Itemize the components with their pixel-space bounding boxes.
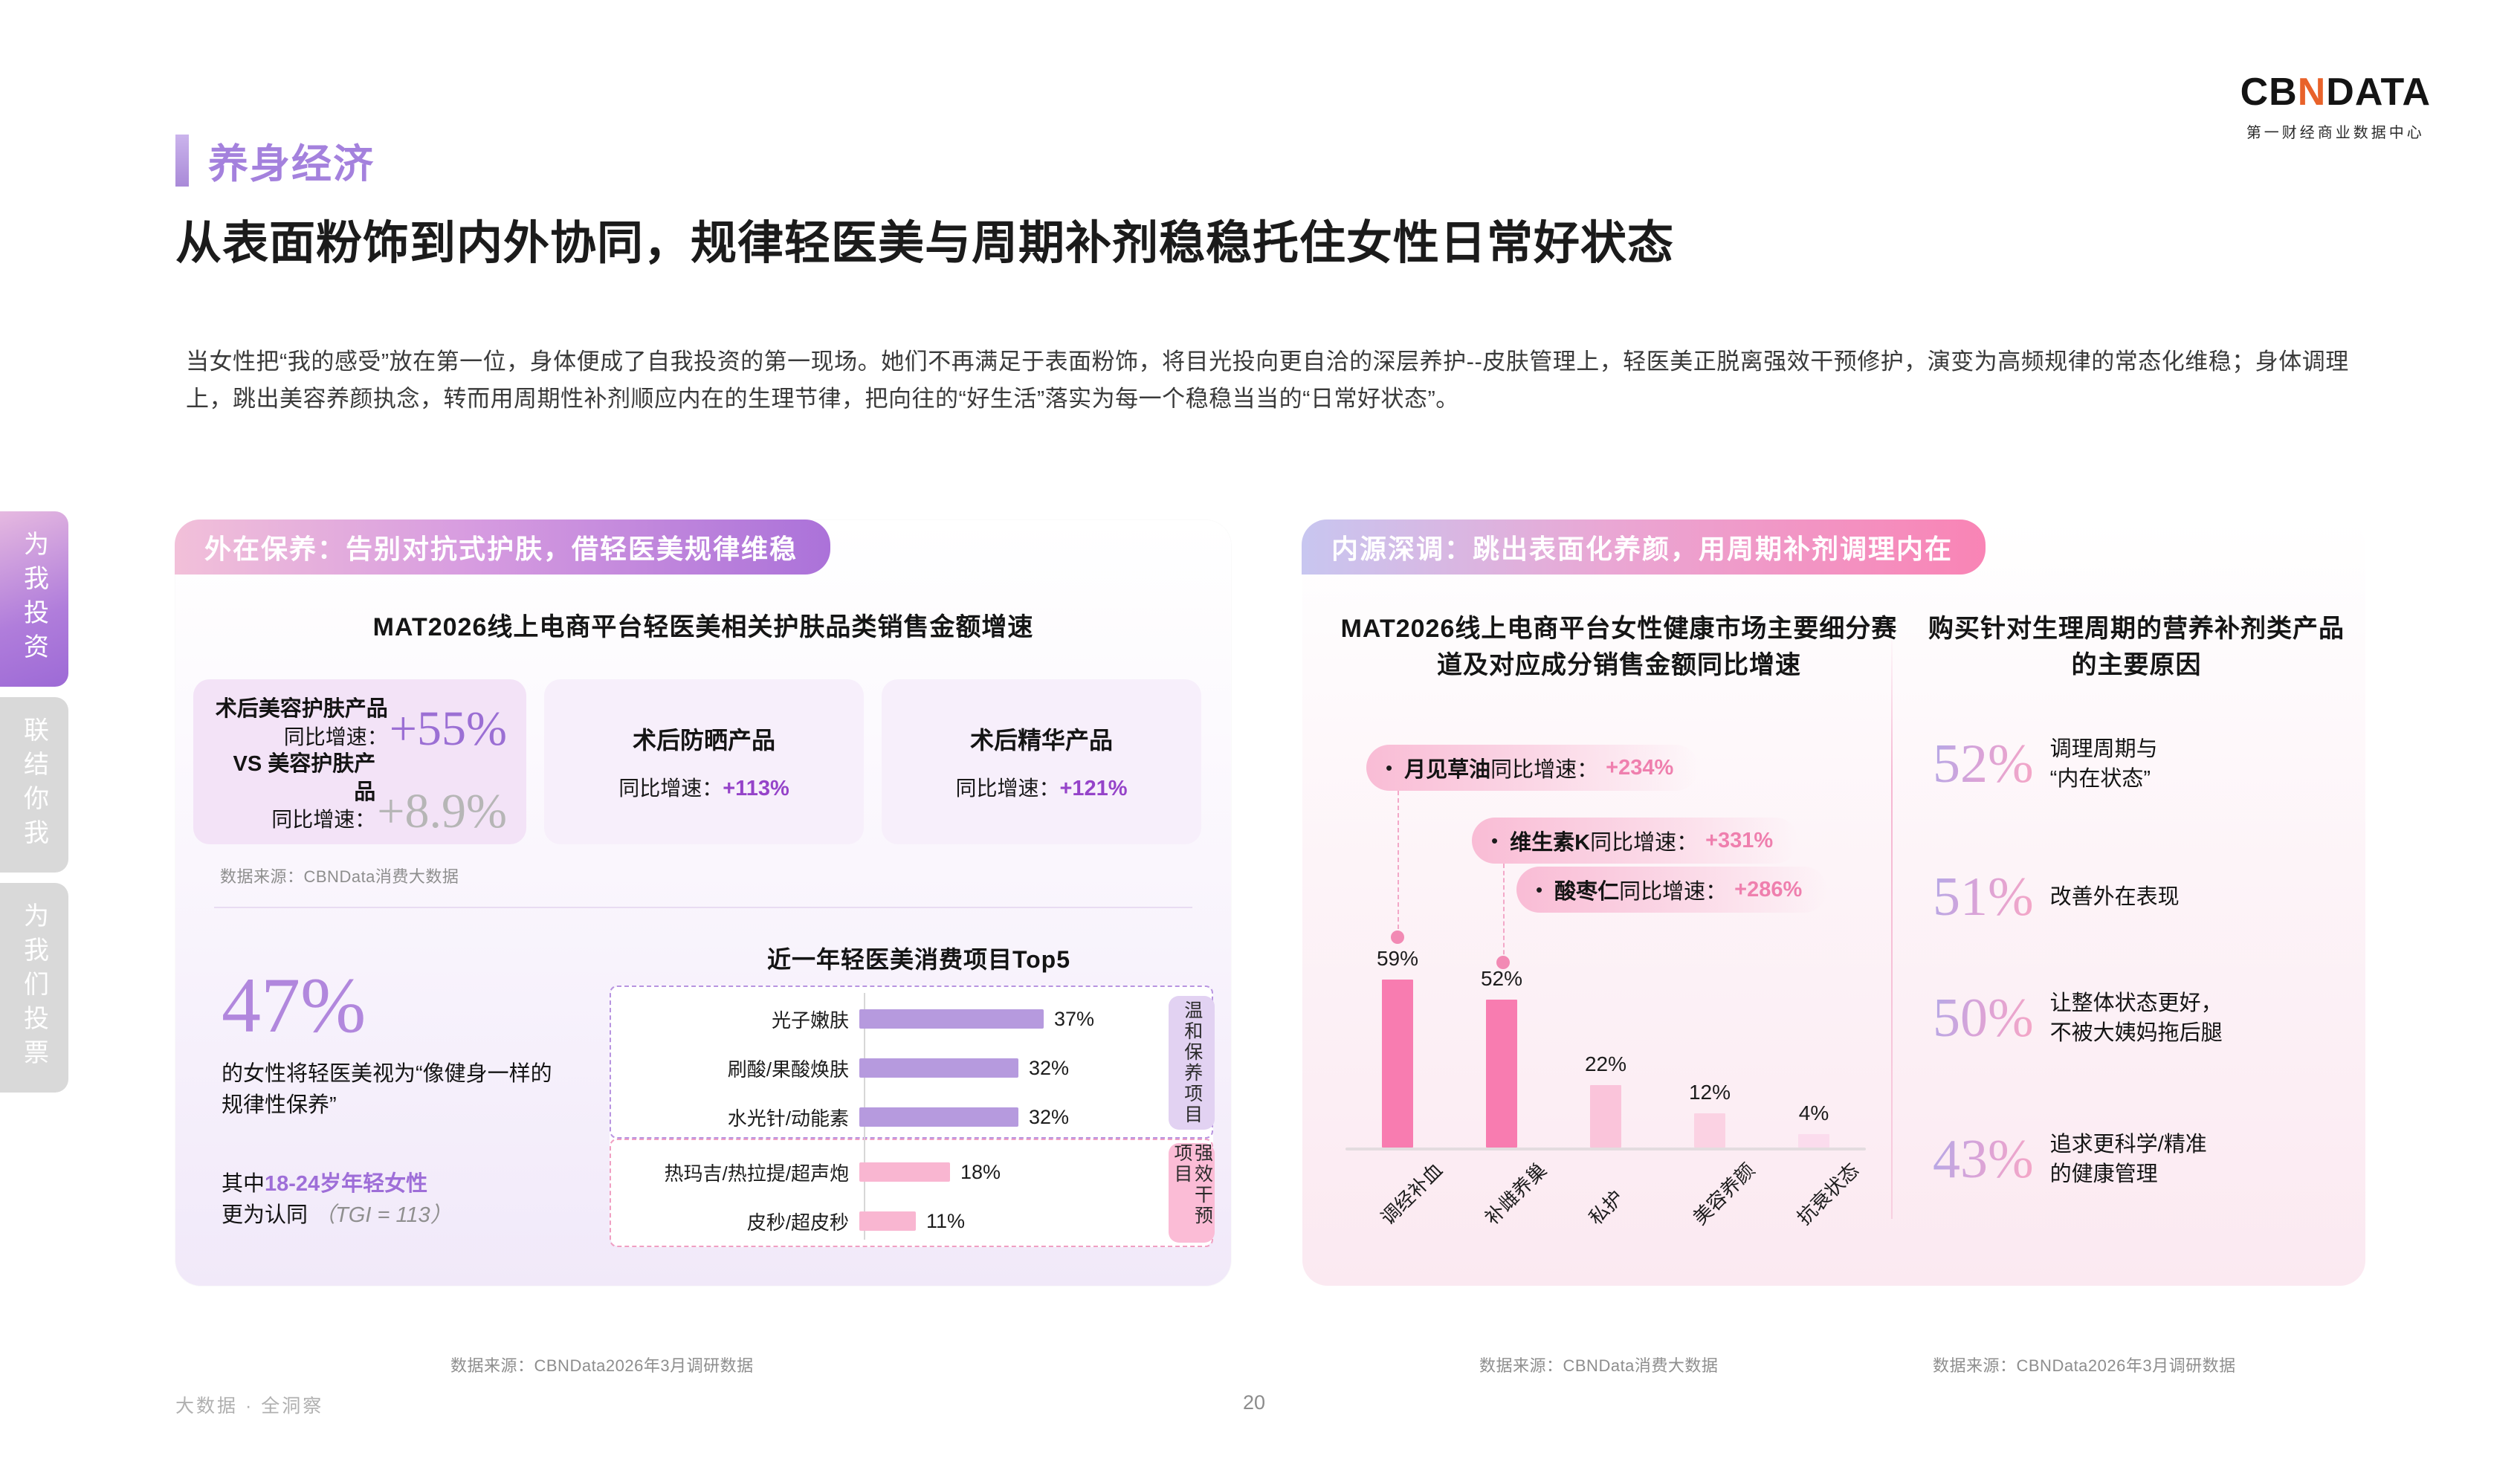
bar-value: 18% <box>960 1161 1001 1184</box>
reason-percent: 50% <box>1933 991 2034 1046</box>
right-panel-banner: 内源深调：跳出表面化养颜，用周期补剂调理内在 <box>1302 520 1986 575</box>
stat-value: +55% <box>390 707 507 751</box>
stat-card-value-line: 同比增速：+113% <box>618 772 789 802</box>
logo-part-b: DATA <box>2326 71 2431 114</box>
bar-category-2: 私护 <box>1582 1183 1629 1230</box>
bar-category-4: 抗衰状态 <box>1790 1156 1864 1230</box>
bar-value: 37% <box>1054 1008 1094 1031</box>
bar-column-3: 12% <box>1658 1081 1762 1148</box>
rail-gap <box>0 687 68 697</box>
kicker-bar <box>175 135 189 187</box>
stat-label-main: VS 美容护肤产品 <box>233 752 376 804</box>
reason-text: 让整体状态更好， 不被大姨妈拖后腿 <box>2050 988 2223 1048</box>
intro-paragraph: 当女性把“我的感受”放在第一位，身体便成了自我投资的第一现场。她们不再满足于表面… <box>186 343 2371 418</box>
logo-wordmark: CBNDATA <box>2240 73 2431 111</box>
reason-text: 调理周期与 “内在状态” <box>2050 734 2158 794</box>
rail-tab-2[interactable]: 为我们投票 <box>0 883 68 1093</box>
callout-mid: 同比增速： <box>1490 752 1598 783</box>
callout-3: • 酸枣仁 同比增速： +286% <box>1516 867 1827 913</box>
slide-page: 为我投资 联结你我 为我们投票 CBNDATA 第一财经商业数据中心 养身经济 … <box>0 0 2520 1479</box>
bar-value: 32% <box>1029 1106 1069 1129</box>
stat-value: +113% <box>723 777 789 800</box>
stat-card-value-line: 同比增速：+121% <box>955 772 1127 802</box>
bar-value: 11% <box>926 1210 965 1233</box>
callout-mid: 同比增速： <box>1590 825 1698 856</box>
rail-gap <box>0 873 68 883</box>
right-source-note-chart: 数据来源：CBNData消费大数据 <box>1479 1353 1718 1376</box>
callout-2: • 维生素K 同比增速： +331% <box>1472 818 1798 864</box>
reason-percent: 52% <box>1933 737 2034 792</box>
right-source-note-reasons: 数据来源：CBNData2026年3月调研数据 <box>1933 1353 2236 1376</box>
reason-item-3: 43% 追求更科学/精准 的健康管理 <box>1933 1130 2207 1189</box>
left-source-note-top: 数据来源：CBNData消费大数据 <box>220 864 459 887</box>
stat-label-sub: 同比增速： <box>216 724 388 751</box>
logo-part-x: N <box>2298 71 2327 114</box>
top5-bar-row-3: 热玛吉/热拉提/超声炮 18% <box>610 1155 1213 1189</box>
bar-label: 皮秒/超皮秒 <box>610 1208 859 1235</box>
callout-name: 月见草油 <box>1404 752 1490 783</box>
stat-line-compare: VS 美容护肤产品同比增速： +8.9% <box>213 751 507 834</box>
footer-tagline: 大数据 · 全洞察 <box>175 1391 323 1418</box>
bar-fill <box>1798 1134 1829 1148</box>
stat-label-sub: 同比增速： <box>213 806 375 833</box>
stat-card-postop-essence: 术后精华产品 同比增速：+121% <box>882 679 1201 844</box>
stat-value: +121% <box>1059 777 1127 800</box>
bar-category-3: 美容养颜 <box>1686 1156 1760 1230</box>
callout-pct: +286% <box>1734 878 1802 902</box>
bullet-icon: • <box>1491 829 1498 852</box>
bar-value: 12% <box>1689 1081 1731 1104</box>
top5-bar-row-2: 水光针/动能素 32% <box>610 1100 1213 1134</box>
reason-text: 改善外在表现 <box>2050 882 2180 912</box>
leader-line-1 <box>1398 791 1399 936</box>
callout-mid: 同比增速： <box>1619 874 1727 905</box>
stat-value: +8.9% <box>377 789 507 833</box>
reason-percent: 51% <box>1933 870 2034 925</box>
stat-label: VS 美容护肤产品同比增速： <box>213 751 375 834</box>
stat-prefix: 同比增速： <box>955 777 1059 800</box>
bar-column-2: 22% <box>1554 1052 1658 1148</box>
bar-fill <box>859 1211 916 1231</box>
left-source-note-bottom: 数据来源：CBNData2026年3月调研数据 <box>450 1353 754 1376</box>
rail-tab-0[interactable]: 为我投资 <box>0 511 68 687</box>
stat-card-title: 术后防晒产品 <box>633 722 775 756</box>
cbndata-logo: CBNDATA 第一财经商业数据中心 <box>2240 73 2431 142</box>
bar-fill <box>1382 980 1413 1148</box>
top5-bar-row-0: 光子嫩肤 37% <box>610 1002 1213 1036</box>
vertical-separator <box>1891 632 1893 1219</box>
top5-chart-title: 近一年轻医美消费项目Top5 <box>636 941 1201 975</box>
tgi-note: （TGI = 113） <box>314 1203 452 1227</box>
bar-column-1: 52% <box>1450 967 1554 1148</box>
highlight-big-number: 47% <box>222 966 571 1045</box>
stat-prefix: 同比增速： <box>618 777 723 800</box>
callout-pct: +234% <box>1606 756 1673 780</box>
bar-label: 水光针/动能素 <box>610 1104 859 1131</box>
bar-fill <box>1486 1000 1517 1148</box>
bar-fill <box>859 1058 1018 1078</box>
bar-value: 32% <box>1029 1057 1069 1080</box>
tgi-pre: 其中 <box>222 1172 265 1196</box>
reason-percent: 43% <box>1933 1132 2034 1187</box>
segment-bar-chart: 59% 52% 22% 12% 4% 调经补血 补雌养巢 私护 美容 <box>1345 919 1866 1238</box>
logo-part-a: CB <box>2240 71 2298 114</box>
bar-column-0: 59% <box>1345 947 1450 1148</box>
rail-tab-label: 为我投资 <box>16 531 53 667</box>
bar-value: 52% <box>1481 967 1522 991</box>
rail-tab-label: 联结你我 <box>16 716 53 853</box>
page-title: 从表面粉饰到内外协同，规律轻医美与周期补剂稳稳托住女性日常好状态 <box>175 205 1674 272</box>
bar-fill <box>859 1107 1018 1127</box>
kicker-label: 养身经济 <box>208 131 375 190</box>
bar-label: 光子嫩肤 <box>610 1006 859 1033</box>
bar-value: 4% <box>1799 1101 1829 1125</box>
reasons-title: 购买针对生理周期的营养补剂类产品的主要原因 <box>1928 611 2345 685</box>
right-chart-title: MAT2026线上电商平台女性健康市场主要细分赛道及对应成分销售金额同比增速 <box>1337 611 1902 685</box>
reason-text: 追求更科学/精准 的健康管理 <box>2050 1130 2207 1189</box>
stat-card-title: 术后精华产品 <box>970 722 1113 756</box>
page-number: 20 <box>1243 1391 1265 1414</box>
bar-category-0: 调经补血 <box>1374 1156 1448 1230</box>
left-panel: 外在保养：告别对抗式护肤，借轻医美规律维稳 MAT2026线上电商平台轻医美相关… <box>175 520 1231 1286</box>
highlight-tgi: 其中18-24岁年轻女性更为认同 （TGI = 113） <box>222 1168 571 1231</box>
reason-item-1: 51% 改善外在表现 <box>1933 870 2180 925</box>
bar-value: 22% <box>1585 1052 1626 1076</box>
stat-label: 术后美容护肤产品同比增速： <box>216 696 388 751</box>
highlight-block: 47% 的女性将轻医美视为“像健身一样的规律性保养” 其中18-24岁年轻女性更… <box>222 966 571 1231</box>
logo-subtitle: 第一财经商业数据中心 <box>2240 120 2431 142</box>
top5-bar-row-4: 皮秒/超皮秒 11% <box>610 1204 1213 1238</box>
rail-tab-label: 为我们投票 <box>16 902 53 1073</box>
group-tag-mild: 温和保养项目 <box>1169 996 1215 1130</box>
section-kicker: 养身经济 <box>175 131 375 190</box>
stat-label-main: 术后美容护肤产品 <box>216 697 388 721</box>
bar-fill <box>859 1162 950 1182</box>
side-rail: 为我投资 联结你我 为我们投票 <box>0 511 68 1093</box>
top5-bar-row-1: 刷酸/果酸焕肤 32% <box>610 1051 1213 1085</box>
reason-item-0: 52% 调理周期与 “内在状态” <box>1933 734 2158 794</box>
bar-fill <box>859 1009 1044 1029</box>
chart-baseline <box>1345 1148 1866 1150</box>
bar-value: 59% <box>1377 947 1418 971</box>
stat-card-row: 术后美容护肤产品同比增速： +55% VS 美容护肤产品同比增速： +8.9% … <box>193 679 1201 844</box>
highlight-text: 的女性将轻医美视为“像健身一样的规律性保养” <box>222 1058 571 1121</box>
rail-tab-1[interactable]: 联结你我 <box>0 697 68 873</box>
top5-chart: 光子嫩肤 37% 刷酸/果酸焕肤 32% 水光针/动能素 32% 热玛吉/热拉提… <box>610 986 1213 1247</box>
stat-card-postop-sunscreen: 术后防晒产品 同比增速：+113% <box>544 679 864 844</box>
bar-group: 59% 52% 22% 12% 4% <box>1345 941 1866 1148</box>
bar-fill <box>1590 1085 1621 1148</box>
panel-divider <box>214 907 1192 908</box>
left-panel-banner: 外在保养：告别对抗式护肤，借轻医美规律维稳 <box>175 520 830 575</box>
stat-line-primary: 术后美容护肤产品同比增速： +55% <box>213 696 507 751</box>
bar-fill <box>1694 1113 1725 1148</box>
stat-card-postop-skincare: 术后美容护肤产品同比增速： +55% VS 美容护肤产品同比增速： +8.9% <box>193 679 526 844</box>
group-tag-strong: 强效干预项目 <box>1169 1143 1215 1243</box>
bar-label: 热玛吉/热拉提/超声炮 <box>610 1159 859 1186</box>
bar-label: 刷酸/果酸焕肤 <box>610 1055 859 1082</box>
bar-column-4: 4% <box>1762 1101 1866 1148</box>
left-chart-title: MAT2026线上电商平台轻医美相关护肤品类销售金额增速 <box>220 609 1186 646</box>
bar-category-1: 补雌养巢 <box>1478 1156 1552 1230</box>
bullet-icon: • <box>1386 757 1392 780</box>
callout-name: 维生素K <box>1510 825 1590 856</box>
callout-1: • 月见草油 同比增速： +234% <box>1366 745 1699 791</box>
bullet-icon: • <box>1536 878 1542 902</box>
reason-item-2: 50% 让整体状态更好， 不被大姨妈拖后腿 <box>1933 988 2223 1048</box>
tgi-highlight: 18-24岁年轻女性 <box>265 1172 427 1196</box>
callout-name: 酸枣仁 <box>1554 874 1619 905</box>
callout-pct: +331% <box>1705 829 1773 853</box>
tgi-post: 更为认同 <box>222 1203 308 1227</box>
